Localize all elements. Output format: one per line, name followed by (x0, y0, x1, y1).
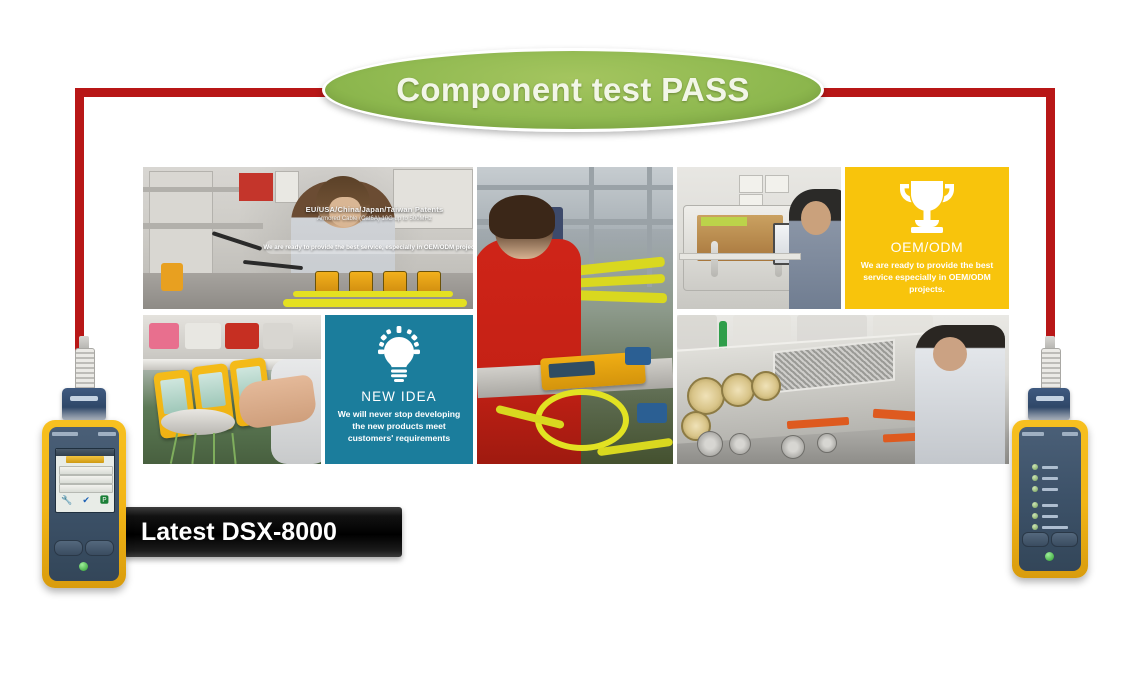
led-label (1042, 526, 1068, 529)
machine-gear (729, 433, 751, 455)
dsx-8000-main-unit[interactable]: 🔧 ✔ 🅿 (42, 420, 126, 588)
display-title-bar (66, 456, 104, 463)
oem-odm-card: OEM/ODM We are ready to provide the best… (845, 167, 1009, 309)
machine-rail (679, 253, 801, 260)
machine-gear (817, 433, 837, 453)
led-group-top (1032, 464, 1058, 492)
green-indicator-strip (701, 217, 747, 226)
new-idea-body: We will never stop developing the new pr… (331, 409, 467, 445)
grey-bin (263, 323, 293, 349)
new-idea-card: NEW IDEA We will never stop developing t… (325, 315, 473, 464)
led-label (1042, 477, 1058, 480)
photo-worker-testing-cables (477, 167, 673, 464)
shelf-board (143, 187, 249, 192)
posted-note (739, 175, 763, 193)
oem-odm-body: We are ready to provide the best service… (853, 259, 1001, 295)
tape-reel (721, 373, 755, 407)
display-list-row[interactable] (59, 475, 113, 484)
product-name-banner: Latest DSX-8000 (124, 507, 402, 557)
model-mark (98, 432, 116, 436)
pass-banner-label: Component test PASS (396, 71, 749, 109)
led-indicator (1032, 486, 1058, 492)
device-faceplate (1019, 427, 1081, 571)
brand-mark (1022, 432, 1044, 436)
led-dot (1032, 524, 1038, 530)
display-status-bar (56, 449, 114, 456)
led-dot (1032, 502, 1038, 508)
cable-connector (383, 271, 407, 293)
photo-lab-equipment (677, 167, 841, 309)
lightbulb-icon (325, 324, 473, 386)
led-label (1042, 466, 1058, 469)
yellow-cable (293, 291, 453, 297)
power-button[interactable] (85, 540, 114, 556)
device-button-row (54, 540, 114, 554)
tester-screen (198, 372, 226, 409)
shelf-board (143, 223, 263, 229)
led-dot (1032, 486, 1038, 492)
ceiling-beam (477, 185, 673, 190)
cable-connector (417, 271, 441, 293)
service-overlay-text: We are ready to provide the best service… (263, 244, 473, 251)
green-wire (191, 433, 196, 464)
display-icon-bar: 🔧 ✔ 🅿 (56, 492, 114, 509)
round-tray (161, 409, 235, 435)
green-wire (231, 433, 236, 464)
photo-production-machinery (677, 315, 1009, 464)
green-wire (170, 433, 178, 464)
machine-gear (781, 435, 805, 459)
test-adapter-module (62, 388, 106, 420)
worker-hair (489, 195, 555, 239)
cable-connector (349, 271, 373, 293)
led-indicator (1032, 464, 1058, 470)
tape-reel (751, 371, 781, 401)
patents-overlay-text: EU/USA/China/Japan/Taiwan Patents Armore… (282, 205, 467, 222)
device-button-row (1022, 532, 1078, 545)
led-indicator (1032, 502, 1068, 508)
component-test-pass-banner: Component test PASS (322, 48, 824, 132)
black-probe-cable (212, 231, 263, 251)
green-wire (213, 433, 215, 464)
tape-reel (687, 377, 725, 415)
posted-note (765, 175, 789, 193)
blue-connector (637, 403, 667, 423)
brand-mark (52, 432, 78, 436)
p-icon[interactable]: 🅿 (100, 496, 109, 505)
wrench-icon[interactable]: 🔧 (61, 496, 72, 505)
dsx-8000-remote-unit[interactable] (1012, 420, 1088, 578)
vertical-post (647, 167, 652, 287)
technician-head (801, 201, 831, 235)
white-bin (185, 323, 221, 349)
led-group-bottom (1032, 502, 1068, 530)
cable-strain-relief (1041, 348, 1061, 392)
background-blur (677, 315, 717, 349)
machine-gear (697, 431, 723, 457)
device-display[interactable]: 🔧 ✔ 🅿 (55, 448, 115, 513)
service-overlay-strip: We are ready to provide the best service… (265, 240, 473, 254)
pink-bin (149, 323, 179, 349)
blue-connector (625, 347, 651, 365)
cable-strain-relief (75, 348, 95, 392)
new-idea-title: NEW IDEA (325, 389, 473, 404)
patents-line-2: Armored Cable (Cat6A) 10G up to 500MHz (282, 216, 467, 222)
vertical-post (589, 167, 594, 275)
trophy-icon (845, 175, 1009, 237)
led-label (1042, 504, 1058, 507)
red-box (239, 173, 273, 201)
led-label (1042, 488, 1058, 491)
led-dot (1032, 464, 1038, 470)
test-adapter-module (1028, 388, 1070, 420)
test-button[interactable] (54, 540, 83, 556)
patents-line-1: EU/USA/China/Japan/Taiwan Patents (282, 205, 467, 214)
led-dot (1032, 475, 1038, 481)
product-name-label: Latest DSX-8000 (141, 518, 337, 547)
orange-bottle (161, 263, 183, 291)
led-indicator (1032, 475, 1058, 481)
factory-photo-collage: EU/USA/China/Japan/Taiwan Patents Armore… (143, 167, 1009, 464)
test-button[interactable] (1022, 532, 1049, 547)
photo-tester-bench (143, 315, 321, 464)
operator-head (933, 337, 967, 371)
led-indicator (1032, 513, 1068, 519)
model-mark (1062, 432, 1078, 436)
check-icon[interactable]: ✔ (82, 496, 90, 505)
oem-odm-title: OEM/ODM (845, 239, 1009, 255)
white-box (275, 171, 299, 203)
led-indicator (1032, 524, 1068, 530)
led-dot (1032, 513, 1038, 519)
yellow-cable (283, 299, 467, 307)
photo-assembly-line: EU/USA/China/Japan/Taiwan Patents Armore… (143, 167, 473, 309)
slide-canvas: Component test PASS EU/USA/Chi (0, 0, 1134, 680)
status-led (79, 562, 88, 571)
led-label (1042, 515, 1058, 518)
display-list-row[interactable] (59, 466, 113, 475)
red-bin (225, 323, 259, 349)
status-led (1045, 552, 1054, 561)
cable-connector (315, 271, 339, 293)
power-button[interactable] (1051, 532, 1078, 547)
